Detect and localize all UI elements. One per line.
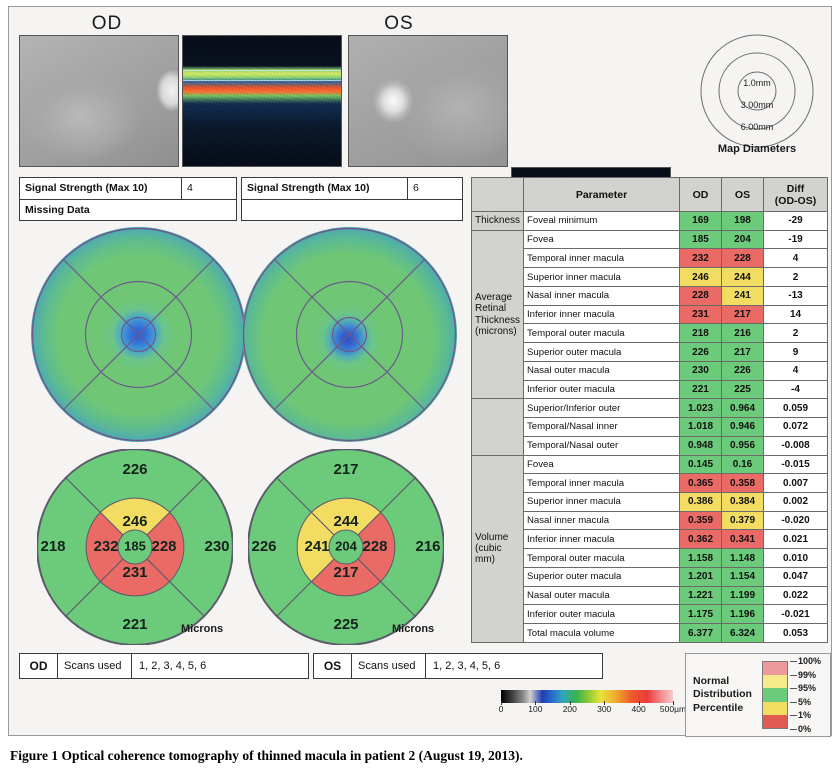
ndp-tick-line [790, 661, 797, 662]
table-cell-od-value: 218 [680, 324, 722, 343]
color-scale-tick-label: 0 [499, 704, 504, 714]
ndp-tick-label: 1% [798, 710, 811, 720]
table-cell-os-value: 0.341 [722, 530, 764, 549]
od-inner-nasal-value: 228 [151, 538, 176, 555]
table-cell-od-value: 1.023 [680, 399, 722, 418]
os-thickness-map-gridlines [242, 227, 457, 442]
ndp-scale: 100%99%95%5%1%0% [762, 657, 824, 733]
table-group-label-line: Volume [475, 532, 520, 543]
table-cell-diff-value: 0.072 [764, 418, 828, 437]
table-cell-os-value: 228 [722, 249, 764, 268]
os-inner-nasal-value: 241 [304, 538, 329, 555]
table-row: Temporal outer macula2182162 [472, 324, 828, 343]
table-row: Temporal inner macula2322284 [472, 249, 828, 268]
oct-report-sheet: OD OS 1.0mm 3.00mm 6.00mm Map Diameters … [8, 6, 832, 736]
table-cell-parameter: Nasal outer macula [524, 586, 680, 605]
table-group-label [472, 399, 524, 455]
table-cell-diff-value: 9 [764, 343, 828, 362]
od-scans-used-label: Scans used [58, 654, 132, 678]
ndp-tick-line [790, 702, 797, 703]
ndp-tick-label: 0% [798, 724, 811, 734]
table-cell-od-value: 0.365 [680, 474, 722, 493]
table-row: Nasal outer macula1.2211.1990.022 [472, 586, 828, 605]
table-cell-diff-value: -0.021 [764, 605, 828, 624]
ndp-tick-line [790, 688, 797, 689]
table-cell-os-value: 217 [722, 305, 764, 324]
header-parameter: Parameter [524, 178, 680, 212]
table-group-label: Volume(cubicmm) [472, 455, 524, 642]
ndp-tick-label: 95% [798, 683, 816, 693]
od-fundus-image [19, 35, 179, 167]
table-group-label-line: mm) [475, 554, 520, 565]
od-outer-inferior-value: 221 [122, 616, 147, 633]
od-thickness-map-gridlines [31, 227, 246, 442]
od-bscan-image [182, 35, 342, 167]
os-thickness-map [242, 227, 457, 442]
od-eye-label: OD [47, 13, 167, 35]
table-cell-diff-value: -19 [764, 230, 828, 249]
ring-label-1mm: 1.0mm [743, 78, 771, 88]
od-inner-inferior-value: 231 [122, 564, 147, 581]
ndp-tick-label: 99% [798, 670, 816, 680]
os-outer-nasal-value: 226 [251, 538, 276, 555]
color-scale-tick-label: 200 [563, 704, 577, 714]
table-row: Nasal inner macula0.3590.379-0.020 [472, 511, 828, 530]
table-cell-diff-value: 2 [764, 324, 828, 343]
table-row: Temporal/Nasal inner1.0180.9460.072 [472, 418, 828, 437]
table-cell-od-value: 232 [680, 249, 722, 268]
table-group-label: Thickness [472, 212, 524, 231]
od-center-value: 185 [124, 538, 146, 553]
table-cell-diff-value: -0.015 [764, 455, 828, 474]
table-row: Superior outer macula2262179 [472, 343, 828, 362]
table-cell-diff-value: 0.007 [764, 474, 828, 493]
table-cell-od-value: 228 [680, 286, 722, 305]
table-cell-os-value: 6.324 [722, 624, 764, 643]
table-group-label-line: (microns) [475, 326, 520, 337]
header-diff: Diff (OD-OS) [764, 178, 828, 212]
table-cell-diff-value: -4 [764, 380, 828, 399]
os-signal-strength-box: Signal Strength (Max 10) 6 [241, 177, 463, 221]
os-missing-data-label [242, 200, 462, 221]
color-scale-tick-label: 300 [597, 704, 611, 714]
table-group-label-line: Thickness [475, 215, 520, 226]
table-row: Inferior outer macula221225-4 [472, 380, 828, 399]
table-group-label-line: Average [475, 292, 520, 303]
table-row: Temporal outer macula1.1581.1480.010 [472, 549, 828, 568]
table-row: Inferior inner macula0.3620.3410.021 [472, 530, 828, 549]
ndp-swatch [763, 675, 787, 688]
table-cell-parameter: Fovea [524, 230, 680, 249]
table-cell-diff-value: 0.002 [764, 493, 828, 512]
table-cell-od-value: 246 [680, 268, 722, 287]
table-cell-parameter: Superior outer macula [524, 567, 680, 586]
od-etdrs-grid: 226 230 221 218 246 228 231 232 185 [37, 449, 233, 645]
table-cell-diff-value: -29 [764, 212, 828, 231]
table-cell-od-value: 1.158 [680, 549, 722, 568]
table-body: ThicknessFoveal minimum169198-29AverageR… [472, 212, 828, 643]
table-row: Inferior inner macula23121714 [472, 305, 828, 324]
od-inner-superior-value: 246 [122, 513, 147, 530]
os-inner-superior-value: 244 [333, 513, 359, 530]
table-cell-parameter: Fovea [524, 455, 680, 474]
table-cell-diff-value: 2 [764, 268, 828, 287]
header-group-blank [472, 178, 524, 212]
table-cell-os-value: 216 [722, 324, 764, 343]
table-cell-parameter: Inferior inner macula [524, 530, 680, 549]
table-cell-od-value: 0.948 [680, 436, 722, 455]
table-cell-diff-value: -0.020 [764, 511, 828, 530]
table-cell-os-value: 225 [722, 380, 764, 399]
ndp-tick-label: 100% [798, 656, 821, 666]
table-cell-diff-value: 0.059 [764, 399, 828, 418]
table-cell-diff-value: 4 [764, 249, 828, 268]
os-signal-strength-row: Signal Strength (Max 10) 6 [242, 178, 462, 200]
table-row: Total macula volume6.3776.3240.053 [472, 624, 828, 643]
table-cell-parameter: Nasal inner macula [524, 286, 680, 305]
os-outer-temporal-value: 216 [415, 538, 440, 555]
table-cell-od-value: 231 [680, 305, 722, 324]
header-diff-line2: (OD-OS) [767, 195, 824, 207]
ndp-title: Normal Distribution Percentile [686, 675, 762, 714]
table-cell-od-value: 169 [680, 212, 722, 231]
os-outer-superior-value: 217 [333, 461, 358, 478]
od-microns-caption: Microns [181, 623, 223, 635]
table-cell-od-value: 1.221 [680, 586, 722, 605]
od-scans-eye-label: OD [20, 654, 58, 678]
os-center-value: 204 [335, 538, 357, 553]
table-cell-diff-value: 0.053 [764, 624, 828, 643]
table-cell-parameter: Superior outer macula [524, 343, 680, 362]
os-scans-used-label: Scans used [352, 654, 426, 678]
table-row: Superior inner macula0.3860.3840.002 [472, 493, 828, 512]
table-row: Temporal inner macula0.3650.3580.007 [472, 474, 828, 493]
color-scale-ticks: 0100200300400500µm [501, 704, 673, 722]
table-group-label-line: Retinal [475, 303, 520, 314]
table-cell-od-value: 1.175 [680, 605, 722, 624]
table-cell-od-value: 226 [680, 343, 722, 362]
ndp-swatch [763, 688, 787, 701]
ndp-percentile-labels: 100%99%95%5%1%0% [790, 657, 824, 733]
table-cell-os-value: 226 [722, 361, 764, 380]
table-cell-diff-value: -0.008 [764, 436, 828, 455]
od-signal-strength-box: Signal Strength (Max 10) 4 Missing Data [19, 177, 237, 221]
table-cell-parameter: Nasal inner macula [524, 511, 680, 530]
table-row: ThicknessFoveal minimum169198-29 [472, 212, 828, 231]
oct-parameter-table: Parameter OD OS Diff (OD-OS) ThicknessFo… [471, 177, 828, 643]
table-cell-parameter: Total macula volume [524, 624, 680, 643]
color-scale-tick-label: 500µm [660, 704, 686, 714]
table-cell-parameter: Inferior inner macula [524, 305, 680, 324]
table-row: Temporal/Nasal outer0.9480.956-0.008 [472, 436, 828, 455]
od-missing-data-label: Missing Data [20, 200, 236, 221]
table-cell-os-value: 1.154 [722, 567, 764, 586]
os-signal-strength-label: Signal Strength (Max 10) [242, 178, 408, 199]
table-cell-od-value: 221 [680, 380, 722, 399]
table-cell-parameter: Inferior outer macula [524, 380, 680, 399]
od-inner-temporal-value: 232 [93, 538, 118, 555]
od-signal-strength-row: Signal Strength (Max 10) 4 [20, 178, 236, 200]
os-inner-inferior-value: 217 [333, 564, 358, 581]
table-cell-parameter: Superior inner macula [524, 268, 680, 287]
header-os: OS [722, 178, 764, 212]
od-outer-temporal-value: 218 [40, 538, 65, 555]
ndp-tick-line [790, 715, 797, 716]
ndp-swatch [763, 715, 787, 728]
os-outer-inferior-value: 225 [333, 616, 358, 633]
table-cell-diff-value: -13 [764, 286, 828, 305]
table-cell-os-value: 0.384 [722, 493, 764, 512]
table-cell-parameter: Temporal outer macula [524, 324, 680, 343]
table-cell-od-value: 0.145 [680, 455, 722, 474]
normal-distribution-percentile-legend: Normal Distribution Percentile 100%99%95… [685, 653, 831, 737]
table-cell-os-value: 1.199 [722, 586, 764, 605]
ndp-tick-label: 5% [798, 697, 811, 707]
table-cell-parameter: Temporal/Nasal outer [524, 436, 680, 455]
table-row: Volume(cubicmm)Fovea0.1450.16-0.015 [472, 455, 828, 474]
table-cell-od-value: 185 [680, 230, 722, 249]
table-cell-os-value: 1.148 [722, 549, 764, 568]
ndp-tick-line [790, 729, 797, 730]
table-cell-os-value: 198 [722, 212, 764, 231]
table-group-label: AverageRetinalThickness(microns) [472, 230, 524, 399]
table-header-row: Parameter OD OS Diff (OD-OS) [472, 178, 828, 212]
ndp-color-swatches [762, 661, 788, 729]
table-cell-diff-value: 0.021 [764, 530, 828, 549]
table-cell-os-value: 0.16 [722, 455, 764, 474]
os-scans-eye-label: OS [314, 654, 352, 678]
color-scale-tick-label: 400 [632, 704, 646, 714]
table-row: Inferior outer macula1.1751.196-0.021 [472, 605, 828, 624]
table-cell-diff-value: 4 [764, 361, 828, 380]
table-group-label-line: (cubic [475, 543, 520, 554]
table-cell-od-value: 0.362 [680, 530, 722, 549]
od-outer-nasal-value: 230 [204, 538, 229, 555]
color-scale-bar [501, 690, 673, 703]
os-inner-temporal-value: 228 [362, 538, 387, 555]
table-cell-os-value: 0.946 [722, 418, 764, 437]
ring-label-6mm: 6.00mm [741, 122, 774, 132]
table-cell-parameter: Temporal outer macula [524, 549, 680, 568]
os-scans-used-box: OS Scans used 1, 2, 3, 4, 5, 6 [313, 653, 603, 679]
map-diameters-caption: Map Diameters [687, 143, 827, 155]
table-cell-od-value: 1.018 [680, 418, 722, 437]
ndp-title-line-3: Percentile [693, 702, 762, 715]
table-row: Superior/Inferior outer1.0230.9640.059 [472, 399, 828, 418]
table-cell-parameter: Foveal minimum [524, 212, 680, 231]
ndp-swatch [763, 662, 787, 675]
od-scans-used-value: 1, 2, 3, 4, 5, 6 [132, 654, 308, 678]
table-cell-parameter: Temporal/Nasal inner [524, 418, 680, 437]
table-cell-od-value: 230 [680, 361, 722, 380]
os-eye-label: OS [339, 13, 459, 35]
color-scale-tick-label: 100 [528, 704, 542, 714]
table-cell-parameter: Superior/Inferior outer [524, 399, 680, 418]
table-cell-diff-value: 0.047 [764, 567, 828, 586]
od-missing-data-row: Missing Data [20, 200, 236, 221]
table-row: Nasal inner macula228241-13 [472, 286, 828, 305]
table-cell-diff-value: 0.010 [764, 549, 828, 568]
od-outer-superior-value: 226 [122, 461, 147, 478]
table-cell-os-value: 244 [722, 268, 764, 287]
table-cell-diff-value: 0.022 [764, 586, 828, 605]
table-cell-os-value: 0.956 [722, 436, 764, 455]
od-thickness-map [31, 227, 246, 442]
thickness-color-scale: 0100200300400500µm [501, 690, 673, 722]
table-row: Superior inner macula2462442 [472, 268, 828, 287]
figure-caption: Figure 1 Optical coherence tomography of… [10, 748, 523, 764]
ndp-swatch [763, 702, 787, 715]
ring-label-3mm: 3.00mm [741, 100, 774, 110]
table-cell-os-value: 0.379 [722, 511, 764, 530]
table-cell-os-value: 1.196 [722, 605, 764, 624]
os-signal-strength-value: 6 [408, 178, 462, 199]
table-row: AverageRetinalThickness(microns)Fovea185… [472, 230, 828, 249]
ndp-title-line-1: Normal [693, 675, 762, 688]
od-signal-strength-label: Signal Strength (Max 10) [20, 178, 182, 199]
table-cell-os-value: 0.964 [722, 399, 764, 418]
ndp-tick-line [790, 675, 797, 676]
os-missing-data-row [242, 200, 462, 221]
header-diff-line1: Diff [767, 183, 824, 195]
os-scans-used-value: 1, 2, 3, 4, 5, 6 [426, 654, 602, 678]
os-etdrs-grid: 217 216 225 226 244 228 217 241 204 [248, 449, 444, 645]
od-scans-used-box: OD Scans used 1, 2, 3, 4, 5, 6 [19, 653, 309, 679]
table-cell-parameter: Superior inner macula [524, 493, 680, 512]
table-cell-diff-value: 14 [764, 305, 828, 324]
table-cell-parameter: Nasal outer macula [524, 361, 680, 380]
os-fundus-image [348, 35, 508, 167]
header-od: OD [680, 178, 722, 212]
table-cell-od-value: 0.359 [680, 511, 722, 530]
table-group-label-line: Thickness [475, 315, 520, 326]
ndp-title-line-2: Distribution [693, 688, 762, 701]
table-cell-os-value: 241 [722, 286, 764, 305]
table-cell-od-value: 0.386 [680, 493, 722, 512]
table-row: Superior outer macula1.2011.1540.047 [472, 567, 828, 586]
od-signal-strength-value: 4 [182, 178, 236, 199]
table-cell-os-value: 217 [722, 343, 764, 362]
table-cell-parameter: Temporal inner macula [524, 249, 680, 268]
table-cell-os-value: 204 [722, 230, 764, 249]
table-header: Parameter OD OS Diff (OD-OS) [472, 178, 828, 212]
table-cell-od-value: 6.377 [680, 624, 722, 643]
table-cell-os-value: 0.358 [722, 474, 764, 493]
os-microns-caption: Microns [392, 623, 434, 635]
table-cell-parameter: Inferior outer macula [524, 605, 680, 624]
table-cell-parameter: Temporal inner macula [524, 474, 680, 493]
table-cell-od-value: 1.201 [680, 567, 722, 586]
table-row: Nasal outer macula2302264 [472, 361, 828, 380]
